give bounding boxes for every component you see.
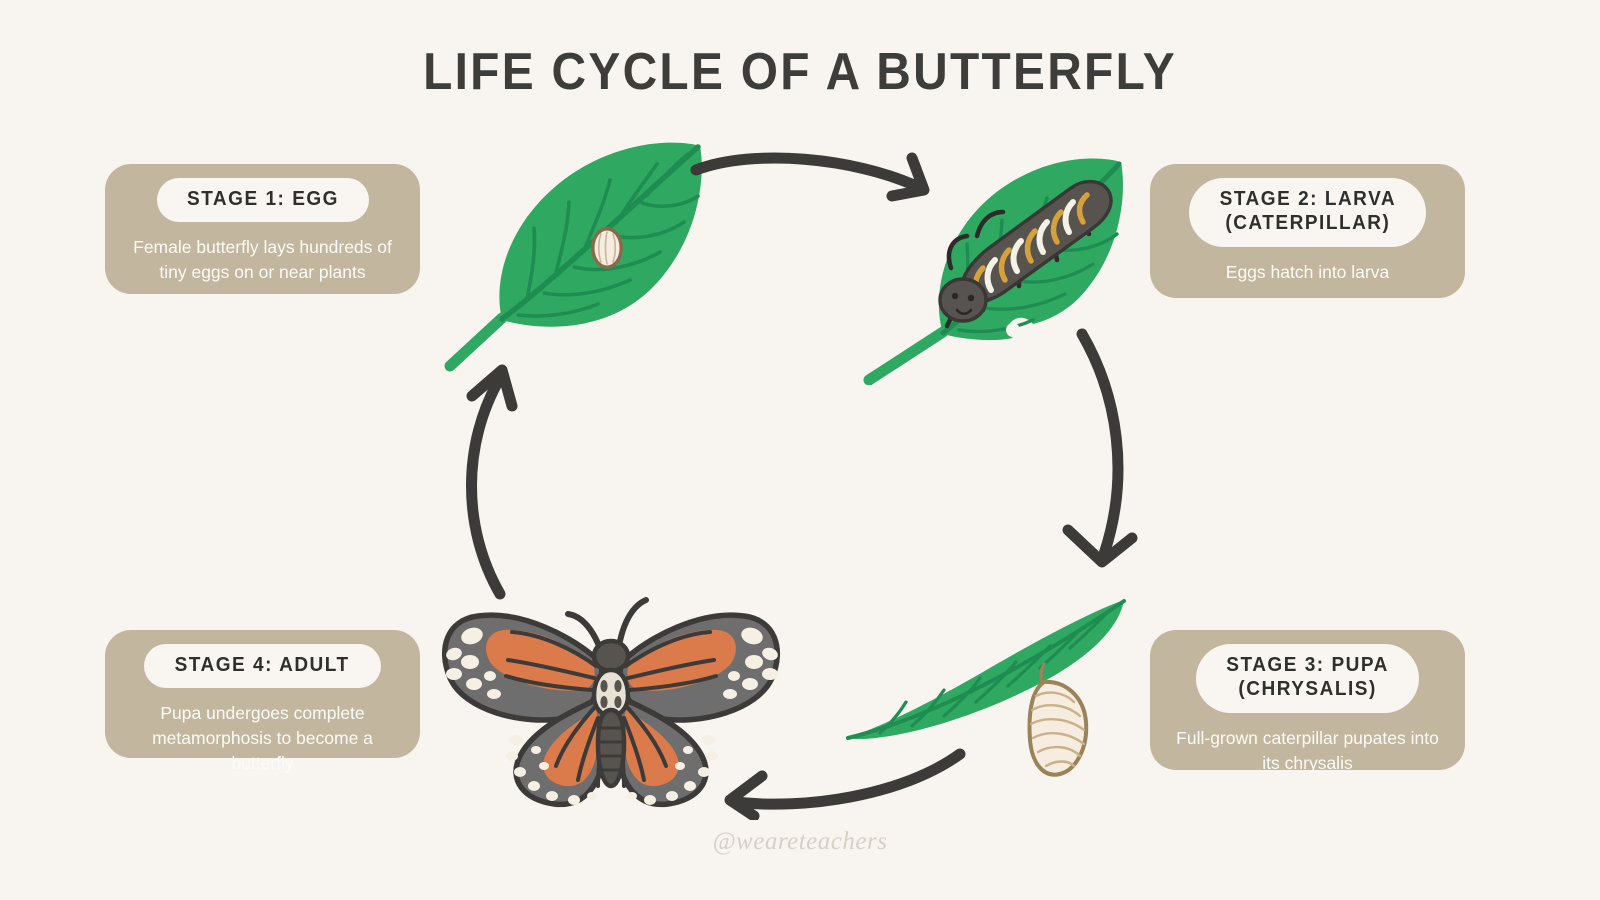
butterfly-abdomen <box>598 710 624 786</box>
stage-2-description: Eggs hatch into larva <box>1220 260 1395 285</box>
stage-2-title-line-2: (CATERPILLAR) <box>1219 211 1395 235</box>
stage-3-title-pill: STAGE 3: PUPA (CHRYSALIS) <box>1196 644 1419 713</box>
stage-2-title-line-1: STAGE 2: LARVA <box>1219 187 1395 211</box>
stage-3-title-line-1: STAGE 3: PUPA <box>1226 653 1389 677</box>
stage-3-title-line-2: (CHRYSALIS) <box>1226 677 1389 701</box>
stage-4-title-pill: STAGE 4: ADULT <box>144 644 380 688</box>
stage-4-description: Pupa undergoes complete metamorphosis to… <box>119 701 406 776</box>
stage-card-4-adult: STAGE 4: ADULT Pupa undergoes complete m… <box>105 630 420 758</box>
page-title: LIFE CYCLE OF A BUTTERFLY <box>64 42 1536 102</box>
stage-3-description: Full-grown caterpillar pupates into its … <box>1164 726 1451 776</box>
leaf-with-egg-illustration <box>432 128 712 373</box>
arrow-larva-to-pupa <box>1048 318 1160 582</box>
infographic-canvas: LIFE CYCLE OF A BUTTERFLY STAGE 1: EGG F… <box>0 0 1600 900</box>
butterfly-egg-icon <box>591 227 623 269</box>
watermark-credit: @weareteachers <box>0 828 1600 856</box>
stage-1-title-pill: STAGE 1: EGG <box>157 178 369 222</box>
butterfly-head <box>594 641 628 671</box>
stage-1-title-line-1: STAGE 1: EGG <box>187 187 339 211</box>
stage-1-description: Female butterfly lays hundreds of tiny e… <box>119 235 406 285</box>
chrysalis-icon <box>1030 682 1087 775</box>
stage-4-title-line-1: STAGE 4: ADULT <box>175 653 350 677</box>
arrow-pupa-to-adult <box>708 736 972 820</box>
stage-card-2-larva: STAGE 2: LARVA (CATERPILLAR) Eggs hatch … <box>1150 164 1465 298</box>
arrow-egg-to-larva <box>684 138 944 222</box>
stage-card-1-egg: STAGE 1: EGG Female butterfly lays hundr… <box>105 164 420 294</box>
arrow-adult-to-egg <box>438 352 550 608</box>
stage-2-title-pill: STAGE 2: LARVA (CATERPILLAR) <box>1189 178 1427 247</box>
stage-card-3-pupa: STAGE 3: PUPA (CHRYSALIS) Full-grown cat… <box>1150 630 1465 770</box>
